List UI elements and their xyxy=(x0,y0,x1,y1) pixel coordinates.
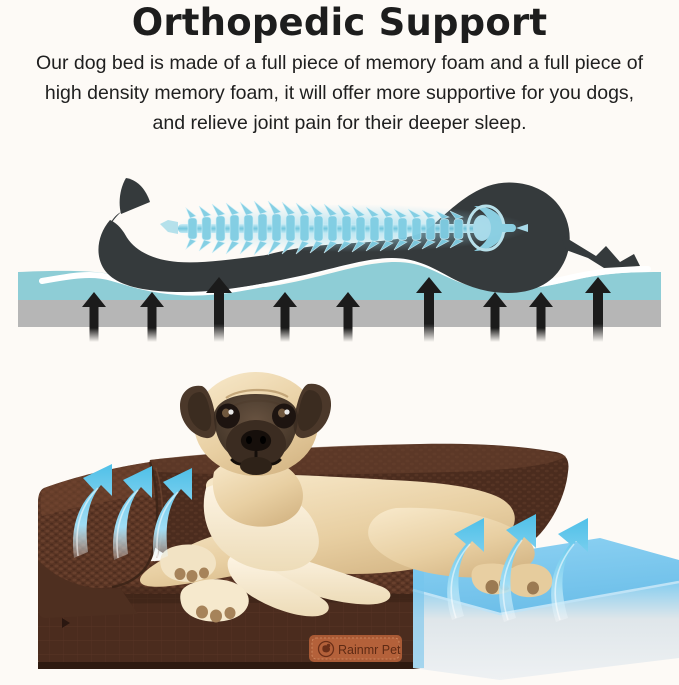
brand-label-text: Rainmr Pet xyxy=(338,643,401,657)
product-photo: Rainmr Pet xyxy=(0,368,679,680)
product-infographic: Orthopedic Support Our dog bed is made o… xyxy=(0,0,679,680)
description-line-2: high density memory foam, it will offer … xyxy=(6,78,673,108)
page-description: Our dog bed is made of a full piece of m… xyxy=(6,48,673,138)
description-line-3: and relieve joint pain for their deeper … xyxy=(6,108,673,138)
header-section: Orthopedic Support Our dog bed is made o… xyxy=(0,0,679,145)
diagram-svg xyxy=(0,150,679,365)
page-title: Orthopedic Support xyxy=(0,1,679,44)
spine-support-diagram xyxy=(0,150,679,365)
description-line-1: Our dog bed is made of a full piece of m… xyxy=(6,48,673,78)
product-photo-svg: Rainmr Pet xyxy=(0,368,679,680)
brand-label: Rainmr Pet xyxy=(309,635,402,662)
